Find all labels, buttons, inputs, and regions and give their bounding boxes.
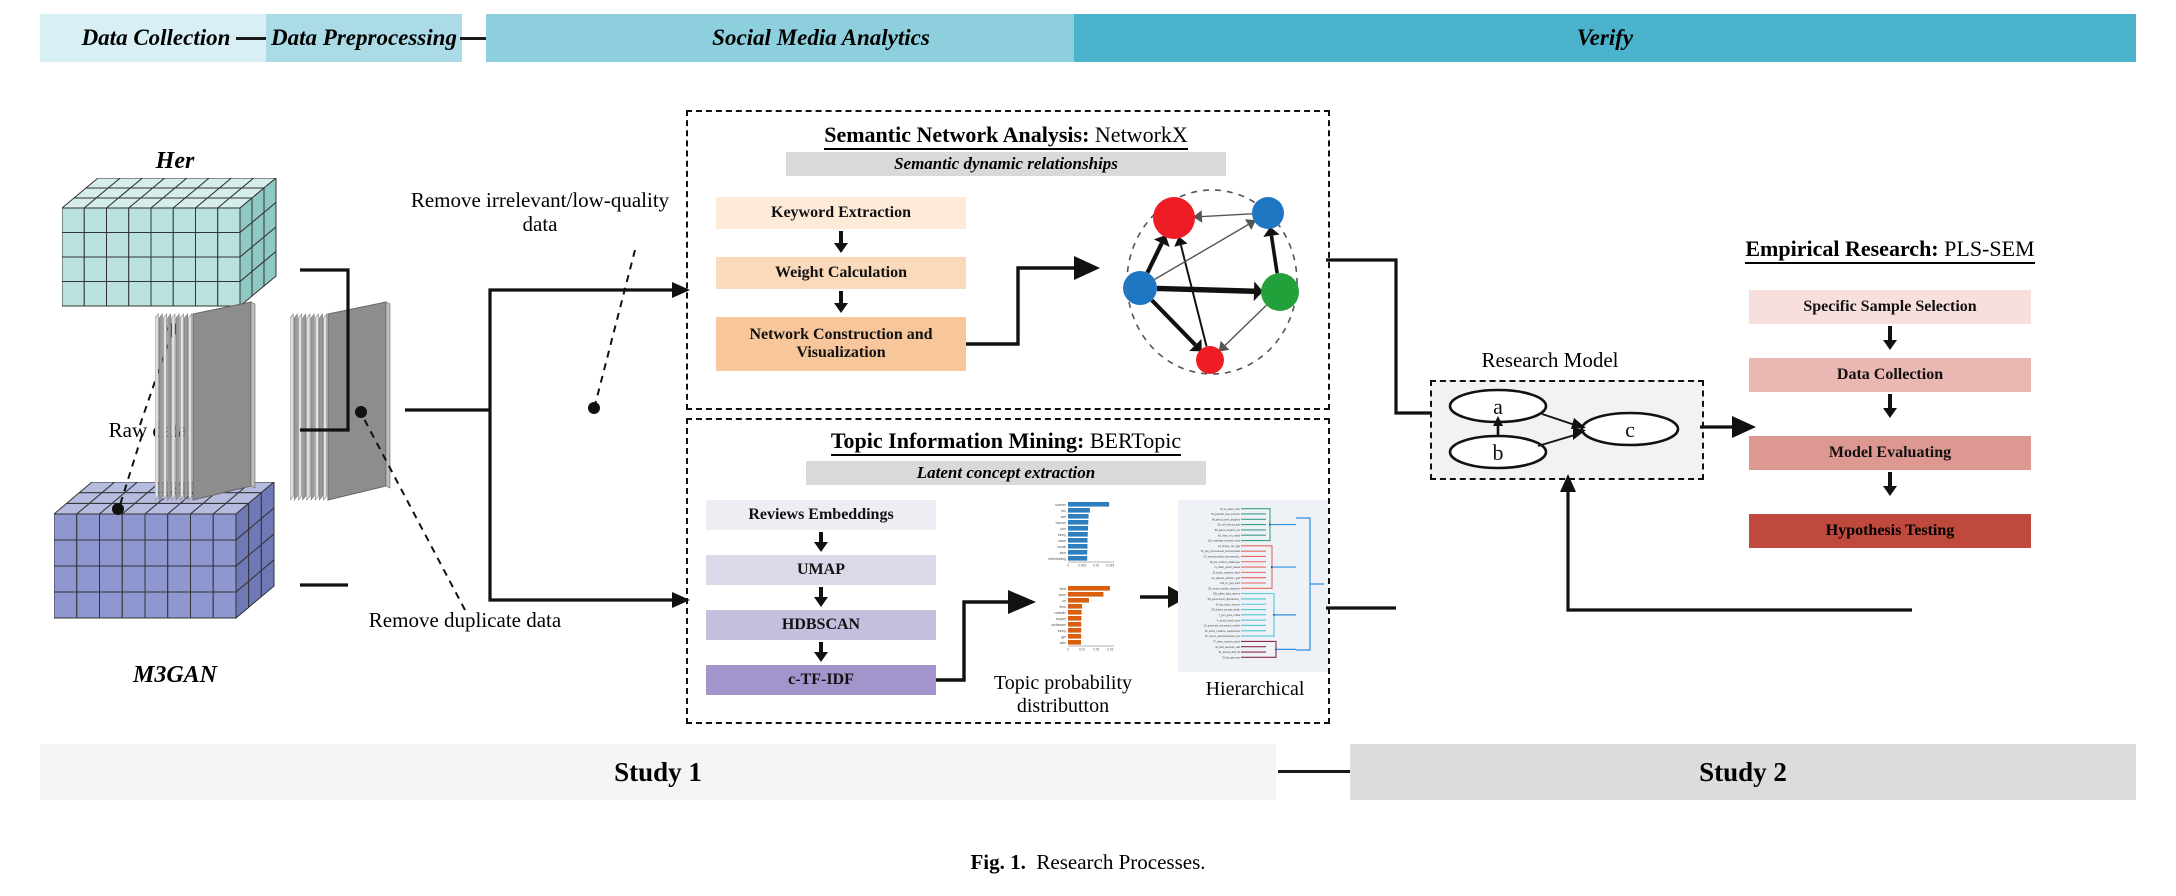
dendrogram-caption: Hierarchical [1180,678,1330,701]
svg-text:human: human [1056,521,1066,525]
title-text: Research Model [1481,348,1618,372]
topic-step-reviews-embeddings: Reviews Embeddings [706,500,936,530]
svg-text:94_ts_satan_thou: 94_ts_satan_thou [1220,508,1240,511]
empirical-panel-title: Empirical Research: PLS-SEM [1650,236,2130,262]
study-banner-2: Study 2 [1350,744,2136,800]
svg-text:68_jesus_tomb_disciples: 68_jesus_tomb_disciples [1212,518,1241,521]
svg-text:61_koresh_batf_fbi: 61_koresh_batf_fbi [1219,651,1241,654]
svg-text:50_gay_homosexual_homosexuals: 50_gay_homosexual_homosexuals [1201,550,1241,553]
step-label: Weight Calculation [775,264,907,282]
study-label: Study 2 [1699,757,1787,788]
hierarchical-dendrogram: 94_ts_satan_thou78_jehovah_lord_mormon68… [1178,500,1328,672]
svg-text:0: 0 [1067,647,1069,651]
figure-caption: Fig. 1. Research Processes. [0,850,2176,875]
svg-text:face: face [1060,551,1067,555]
topic-step-ctfidf: c-TF-IDF [706,665,936,695]
svg-text:15_armenian_armenians_turkish: 15_armenian_armenians_turkish [1204,625,1241,628]
svg-text:funny: funny [1058,629,1067,633]
semantic-step-network-construction: Network Construction and Visualization [716,317,966,371]
step-label: Hypothesis Testing [1826,522,1954,540]
svg-text:33_judas_scripture_bible: 33_judas_scripture_bible [1212,571,1240,574]
study-connector [1278,770,1352,773]
caption-text: Hierarchical [1206,678,1305,700]
phase-label: Verify [1577,25,1633,51]
svg-text:110_marriage_married_mary: 110_marriage_married_mary [1208,540,1241,543]
svg-text:21_atheists_atheism_god: 21_atheists_atheism_god [1212,577,1241,580]
svg-text:best: best [1060,587,1066,591]
svg-text:time: time [1060,605,1067,609]
svg-text:funny: funny [1058,533,1067,537]
topic-title-plain: BERTopic [1084,428,1181,453]
semantic-title-plain: NetworkX [1089,122,1187,147]
step-label: HDBSCAN [782,616,860,634]
svg-text:seen: seen [1059,593,1066,597]
svg-text:value: value [1058,539,1066,543]
step-label: Data Collection [1837,366,1943,384]
model-node-a-label: a [1493,394,1503,419]
semantic-network-graph [1120,180,1320,390]
svg-text:0.01: 0.01 [1079,647,1085,651]
svg-text:entertaining: entertaining [1048,557,1066,561]
svg-text:53_hell_eternal_god: 53_hell_eternal_god [1217,524,1240,527]
step-label: Model Evaluating [1829,444,1951,462]
svg-text:0.015: 0.015 [1106,563,1114,567]
svg-text:0.005: 0.005 [1078,563,1086,567]
annotation-text: Remove irrelevant/low-quality data [411,188,669,236]
phase-label: Data Preprocessing [271,25,457,51]
step-label: c-TF-IDF [788,671,854,689]
svg-text:78_jehovah_lord_mormon: 78_jehovah_lord_mormon [1211,513,1241,516]
semantic-title-bold: Semantic Network Analysis: [824,122,1089,147]
study-label: Study 1 [614,757,702,788]
semantic-step-weight-calculation: Weight Calculation [716,257,966,289]
step-label: Keyword Extraction [771,204,911,222]
svg-text:124_br_god_exist: 124_br_god_exist [1220,582,1240,585]
study-banner-1: Study 1 [40,744,1276,800]
svg-text:fun: fun [1061,509,1066,513]
model-node-b-label: b [1493,440,1504,465]
phase-label: Data Collection [82,25,231,51]
dataset-label-text: M3GAN [133,662,217,688]
step-label: Specific Sample Selection [1803,298,1976,316]
topic-step-hdbscan: HDBSCAN [706,610,936,640]
topic-step-umap: UMAP [706,555,936,585]
phase-banner-data-preprocessing: Data Preprocessing [266,14,462,62]
svg-text:self: self [1061,515,1066,519]
empirical-step-model-evaluating: Model Evaluating [1749,436,2031,470]
svg-text:29_moral_morality_objective: 29_moral_morality_objective [1208,587,1240,590]
svg-text:56_mary_sin_maria: 56_mary_sin_maria [1218,534,1241,537]
dataset-label-her: Her [60,148,290,175]
subtitle-text: Latent concept extraction [917,463,1095,483]
svg-text:scenes: scenes [1055,503,1066,507]
svg-text:58_government_libertarians_: 58_government_libertarians_ [1208,598,1241,601]
dataset-cube-her [62,178,302,313]
svg-text:106_rights_right_slavery: 106_rights_right_slavery [1213,593,1241,596]
svg-text:89_aaron_baptism_sin: 89_aaron_baptism_sin [1215,529,1241,532]
svg-text:social: social [1057,545,1066,549]
empirical-step-specific-sample-selection: Specific Sample Selection [1749,290,2031,324]
svg-text:4_israel_israeli_jews: 4_israel_israeli_jews [1217,619,1241,622]
caption-text: Topic probability distributton [994,672,1132,717]
step-label: Network Construction and Visualization [716,326,966,362]
semantic-step-keyword-extraction: Keyword Extraction [716,197,966,229]
phase-banner-verify: Verify [1074,14,2136,62]
phase-banner-social-media-analytics: Social Media Analytics [486,14,1156,62]
empirical-title-plain: PLS-SEM [1939,236,2035,261]
document-stack-raw [155,300,275,520]
semantic-to-graph-arrow [966,250,1106,360]
svg-text:23_fbi_gas_tear: 23_fbi_gas_tear [1222,656,1240,659]
svg-text:27_homosexuality_homosexual_: 27_homosexuality_homosexual_ [1204,556,1241,559]
empirical-step-data-collection: Data Collection [1749,358,2031,392]
empirical-feedback-loop [1560,470,1960,630]
topic-probability-charts: scenesfunselfhumanplotfunnyvaluesocialfa… [1028,498,1138,668]
svg-text:55_blacks_penalty_death: 55_blacks_penalty_death [1212,609,1241,612]
svg-text:40_tax_taxes_income: 40_tax_taxes_income [1216,603,1241,606]
svg-text:44_kinsey_sex_gay: 44_kinsey_sex_gay [1218,545,1241,548]
svg-text:25_serbs_muslims_stephanopo: 25_serbs_muslims_stephanopo [1205,630,1241,633]
svg-text:plot: plot [1061,527,1067,531]
svg-text:selfaware: selfaware [1051,623,1066,627]
stack-to-panels-connectors [400,250,700,630]
svg-text:7_gun_guns_militia: 7_gun_guns_militia [1218,614,1240,617]
svg-text:realistic: realistic [1055,611,1067,615]
svg-text:36_jim_context_challenges: 36_jim_context_challenges [1210,561,1241,564]
step-label: Reviews Embeddings [748,506,893,524]
subtitle-text: Semantic dynamic relationships [894,154,1118,174]
empirical-step-hypothesis-testing: Hypothesis Testing [1749,514,2031,548]
caption-label: Fig. 1. [970,850,1025,874]
research-model-title: Research Model [1420,348,1680,372]
svg-text:0.03: 0.03 [1107,647,1113,651]
semantic-panel-subtitle: Semantic dynamic relationships [786,152,1226,176]
topic-chart-caption: Topic probability distributton [968,672,1158,718]
topic-panel-title: Topic Information Mining: BERTopic [686,428,1326,454]
phase-label: Social Media Analytics [712,25,930,51]
svg-text:0: 0 [1067,563,1069,567]
figure-canvas: Data Collection Data Preprocessing Socia… [0,0,2176,896]
svg-text:ve: ve [1062,599,1066,603]
annotation-remove-irrelevant: Remove irrelevant/low-quality data [405,188,675,236]
svg-text:safe: safe [1060,641,1067,645]
dataset-label-text: Her [156,148,195,174]
svg-text:87_myers_stephanopoulos_pre: 87_myers_stephanopoulos_pre [1205,635,1241,638]
svg-text:0.01: 0.01 [1093,563,1099,567]
svg-text:0.02: 0.02 [1093,647,1099,651]
research-model-graph: a b c [1436,384,1694,472]
empirical-title-bold: Empirical Research: [1745,236,1938,261]
semantic-panel-title: Semantic Network Analysis: NetworkX [686,122,1326,148]
topic-title-bold: Topic Information Mining: [831,428,1084,453]
svg-text:42_batf_warrants_raid: 42_batf_warrants_raid [1215,646,1240,649]
model-node-c-label: c [1625,417,1635,442]
svg-text:77_rates_workers_jesuit: 77_rates_workers_jesuit [1213,641,1240,644]
dataset-label-m3gan: M3GAN [60,662,290,689]
svg-text:accpet: accpet [1056,617,1066,621]
svg-text:gpt: gpt [1061,635,1066,639]
caption-text: Research Processes. [1036,850,1205,874]
svg-text:71_islam_quran_ulama: 71_islam_quran_ulama [1214,566,1241,569]
topic-panel-subtitle: Latent concept extraction [806,461,1206,485]
step-label: UMAP [797,561,845,579]
